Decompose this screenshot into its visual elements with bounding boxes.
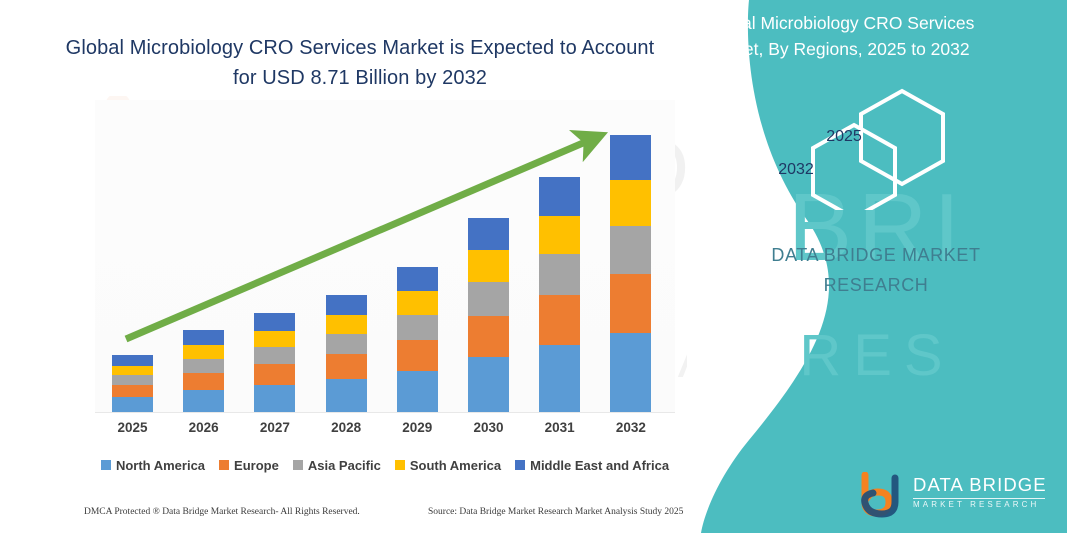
bar-segment	[326, 379, 367, 412]
chart-legend: North AmericaEuropeAsia PacificSouth Ame…	[95, 455, 675, 475]
bar-segment	[112, 375, 153, 385]
bar-segment	[183, 330, 224, 345]
hexagon-2025-label: 2025	[809, 128, 879, 146]
bar-segment	[468, 218, 509, 250]
bar-segment	[468, 357, 509, 412]
legend-swatch-icon	[219, 460, 229, 470]
bar-2029	[397, 267, 438, 412]
x-axis-label-2030: 2030	[459, 420, 519, 435]
bar-segment	[183, 373, 224, 390]
bar-2032	[610, 135, 651, 412]
logo-divider	[913, 498, 1045, 499]
legend-item[interactable]: Europe	[219, 458, 279, 473]
footer-source: Source: Data Bridge Market Research Mark…	[428, 507, 683, 517]
bar-segment	[610, 135, 651, 180]
bar-2027	[254, 313, 295, 412]
bar-segment	[397, 267, 438, 291]
company-logo: DATA BRIDGE MARKET RESEARCH	[855, 470, 1055, 522]
legend-label: Middle East and Africa	[530, 458, 669, 473]
logo-mark-icon	[855, 472, 905, 518]
bar-2028	[326, 295, 367, 412]
year-hexagons	[747, 85, 1047, 210]
bar-segment	[539, 216, 580, 254]
legend-item[interactable]: Middle East and Africa	[515, 458, 669, 473]
bar-segment	[326, 354, 367, 379]
panel-brand-line-1: DATA BRIDGE MARKET	[705, 240, 1047, 270]
legend-item[interactable]: North America	[101, 458, 205, 473]
bar-segment	[254, 347, 295, 364]
bar-2026	[183, 330, 224, 412]
bar-segment	[112, 355, 153, 366]
bar-segment	[254, 331, 295, 347]
bar-2031	[539, 177, 580, 412]
hexagon-2032-label: 2032	[761, 161, 831, 179]
bar-segment	[326, 315, 367, 334]
bar-segment	[539, 254, 580, 295]
bar-segment	[468, 282, 509, 316]
bar-segment	[397, 291, 438, 315]
x-axis-label-2031: 2031	[530, 420, 590, 435]
legend-swatch-icon	[101, 460, 111, 470]
x-axis-label-2026: 2026	[174, 420, 234, 435]
bar-segment	[610, 333, 651, 412]
footer-copyright: DMCA Protected ® Data Bridge Market Rese…	[84, 507, 360, 517]
bar-2030	[468, 218, 509, 412]
bar-segment	[254, 385, 295, 412]
legend-item[interactable]: Asia Pacific	[293, 458, 381, 473]
x-axis-label-2028: 2028	[316, 420, 376, 435]
bar-segment	[254, 364, 295, 385]
x-axis-label-2029: 2029	[387, 420, 447, 435]
bar-segment	[183, 359, 224, 373]
bar-segment	[468, 316, 509, 357]
panel-brand-line-2: RESEARCH	[705, 270, 1047, 300]
legend-label: North America	[116, 458, 205, 473]
logo-name-primary: DATA BRIDGE	[913, 474, 1047, 496]
bar-segment	[326, 334, 367, 354]
bar-segment	[539, 345, 580, 412]
bar-segment	[183, 345, 224, 359]
legend-label: South America	[410, 458, 501, 473]
logo-name-secondary: MARKET RESEARCH	[913, 500, 1039, 509]
legend-label: Asia Pacific	[308, 458, 381, 473]
side-panel: BRI RES Global Microbiology CRO Services…	[687, 0, 1067, 533]
bar-group	[0, 0, 720, 533]
bar-segment	[397, 340, 438, 371]
legend-swatch-icon	[515, 460, 525, 470]
bar-2025	[112, 355, 153, 412]
panel-title: Global Microbiology CRO Services Market,…	[705, 10, 1005, 62]
bar-segment	[254, 313, 295, 331]
legend-swatch-icon	[293, 460, 303, 470]
bar-segment	[468, 250, 509, 282]
x-axis-label-2032: 2032	[601, 420, 661, 435]
bar-segment	[112, 385, 153, 397]
bar-segment	[610, 180, 651, 226]
bar-segment	[112, 397, 153, 412]
chart-area: DATA BRIDGE MARKET RESEARCH Global Micro…	[0, 0, 720, 533]
bar-segment	[112, 366, 153, 375]
bar-segment	[610, 226, 651, 274]
bar-segment	[326, 295, 367, 315]
legend-item[interactable]: South America	[395, 458, 501, 473]
infographic-canvas: DATA BRIDGE MARKET RESEARCH Global Micro…	[0, 0, 1067, 533]
bar-segment	[397, 315, 438, 340]
bar-segment	[539, 177, 580, 216]
footer: DMCA Protected ® Data Bridge Market Rese…	[0, 507, 720, 527]
x-axis-label-2025: 2025	[103, 420, 163, 435]
x-axis-labels: 20252026202720282029203020312032	[0, 420, 720, 444]
x-axis-label-2027: 2027	[245, 420, 305, 435]
legend-swatch-icon	[395, 460, 405, 470]
legend-label: Europe	[234, 458, 279, 473]
bar-segment	[397, 371, 438, 412]
bar-segment	[183, 390, 224, 412]
bar-segment	[610, 274, 651, 333]
panel-brand: DATA BRIDGE MARKET RESEARCH	[705, 240, 1047, 300]
bar-segment	[539, 295, 580, 345]
